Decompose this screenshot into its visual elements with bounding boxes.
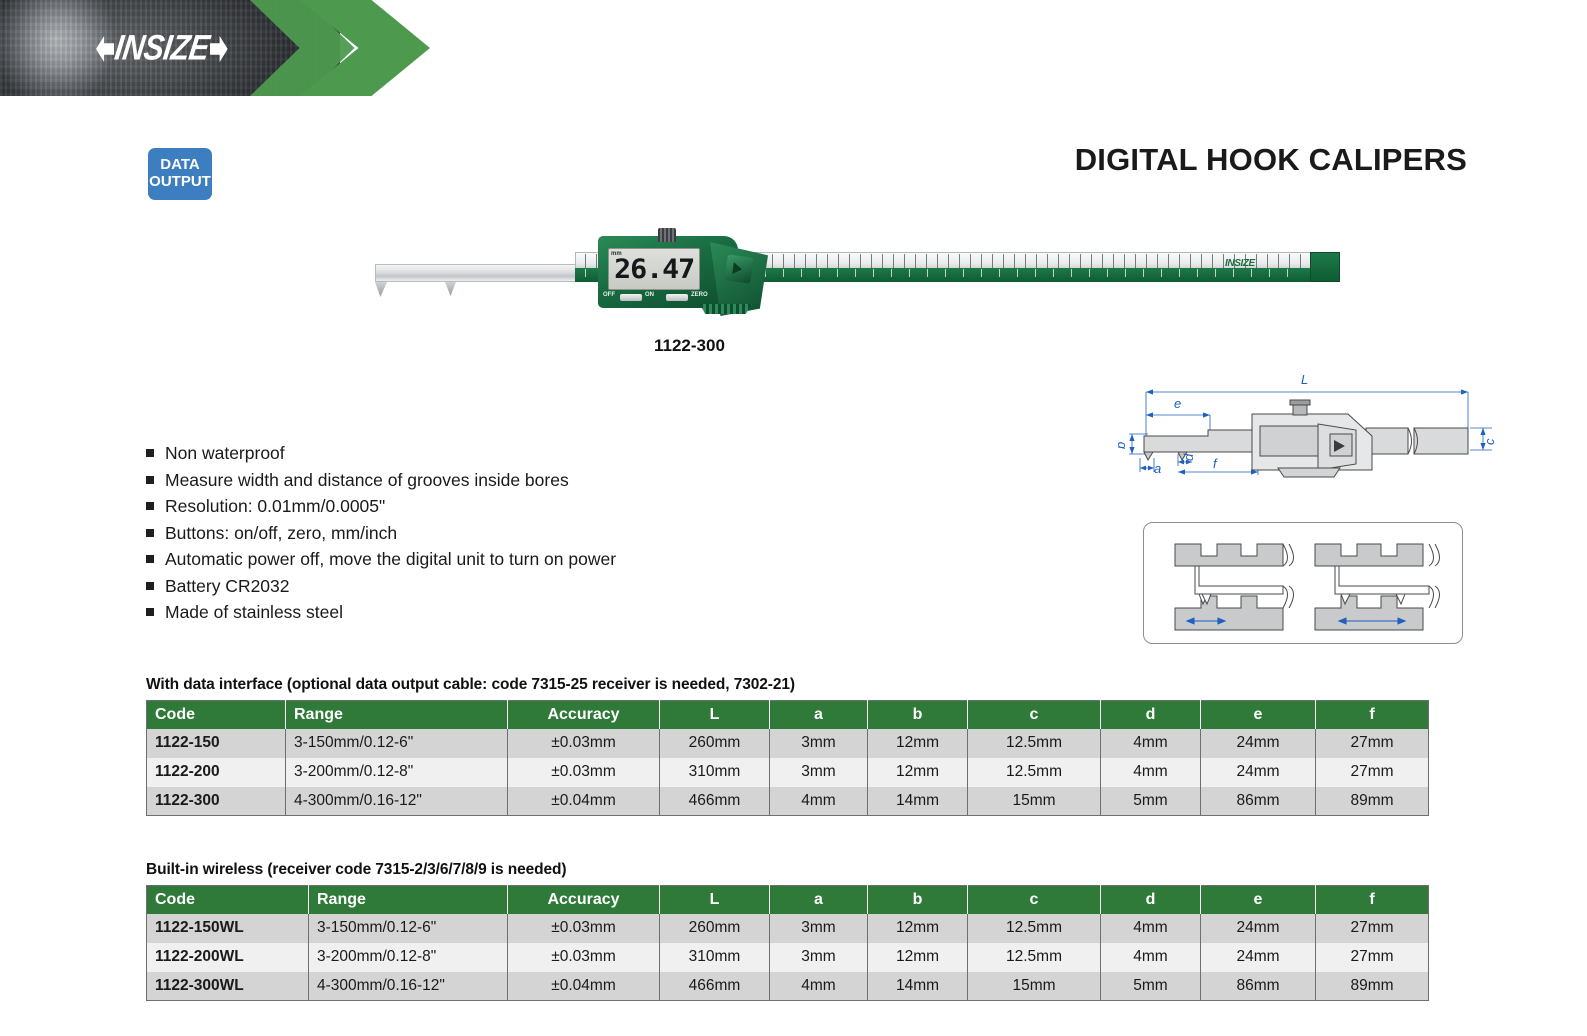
feature-label: Measure width and distance of grooves in… xyxy=(165,469,569,491)
col-header-range: Range xyxy=(286,701,508,729)
col-header-code: Code xyxy=(147,701,286,729)
cell-f: 89mm xyxy=(1316,787,1429,816)
feature-item: Resolution: 0.01mm/0.0005" xyxy=(146,495,766,517)
feature-label: Resolution: 0.01mm/0.0005" xyxy=(165,495,385,517)
data-output-badge: DATA OUTPUT xyxy=(148,148,212,200)
caliper-hook-jaw-right xyxy=(445,282,456,296)
beam-insize-logo: INSIZE xyxy=(1225,258,1255,269)
spec-table-data-interface: Code Range Accuracy L a b c d e f 1122-1… xyxy=(146,700,1429,816)
cell-b: 12mm xyxy=(868,729,968,758)
feature-item: Non waterproof xyxy=(146,442,766,464)
badge-line-2: OUTPUT xyxy=(149,174,211,191)
cell-accuracy: ±0.03mm xyxy=(508,943,660,972)
table-row: 1122-200 3-200mm/0.12-8" ±0.03mm 310mm 3… xyxy=(147,758,1429,787)
logo-right-arrow-icon xyxy=(210,36,228,62)
dim-label-e: e xyxy=(1174,396,1181,411)
cell-d: 4mm xyxy=(1101,758,1201,787)
col-header-b: b xyxy=(868,886,968,914)
cell-e: 24mm xyxy=(1201,729,1316,758)
cell-accuracy: ±0.03mm xyxy=(508,758,660,787)
cell-a: 4mm xyxy=(770,787,868,816)
cell-accuracy: ±0.03mm xyxy=(508,914,660,943)
caliper-roller-wheel xyxy=(724,254,753,283)
insize-logo: INSIZE xyxy=(96,32,256,66)
feature-label: Buttons: on/off, zero, mm/inch xyxy=(165,522,397,544)
lcd-reading: 26.47 xyxy=(614,254,694,285)
table-caption-wireless: Built-in wireless (receiver code 7315-2/… xyxy=(146,861,1429,879)
col-header-accuracy: Accuracy xyxy=(508,701,660,729)
feature-item: Measure width and distance of grooves in… xyxy=(146,469,766,491)
bullet-square-icon xyxy=(146,476,154,484)
cell-l: 466mm xyxy=(660,787,770,816)
application-usage-drawing xyxy=(1143,522,1463,644)
cell-range: 3-150mm/0.12-6" xyxy=(286,729,508,758)
cell-b: 12mm xyxy=(868,914,968,943)
table-header-row: Code Range Accuracy L a b c d e f xyxy=(147,701,1429,729)
cell-l: 466mm xyxy=(660,972,770,1001)
caliper-button-zero xyxy=(666,294,688,301)
cell-range: 3-150mm/0.12-6" xyxy=(309,914,508,943)
col-header-f: f xyxy=(1316,886,1429,914)
cell-accuracy: ±0.04mm xyxy=(508,972,660,1001)
col-header-code: Code xyxy=(147,886,309,914)
col-header-b: b xyxy=(868,701,968,729)
cell-f: 27mm xyxy=(1316,914,1429,943)
cell-f: 27mm xyxy=(1316,729,1429,758)
col-header-accuracy: Accuracy xyxy=(508,886,660,914)
caliper-hook-jaw-left xyxy=(375,282,387,297)
cell-a: 3mm xyxy=(770,758,868,787)
table-row: 1122-200WL 3-200mm/0.12-8" ±0.03mm 310mm… xyxy=(147,943,1429,972)
cell-d: 4mm xyxy=(1101,943,1201,972)
feature-label: Made of stainless steel xyxy=(165,601,343,623)
page-title: DIGITAL HOOK CALIPERS xyxy=(1075,142,1467,178)
cell-a: 4mm xyxy=(770,972,868,1001)
cell-b: 14mm xyxy=(868,787,968,816)
cell-l: 310mm xyxy=(660,943,770,972)
caliper-button-onoff xyxy=(620,294,642,301)
cell-e: 24mm xyxy=(1201,943,1316,972)
table-row: 1122-300 4-300mm/0.16-12" ±0.04mm 466mm … xyxy=(147,787,1429,816)
feature-label: Automatic power off, move the digital un… xyxy=(165,548,616,570)
bullet-square-icon xyxy=(146,502,154,510)
cell-a: 3mm xyxy=(770,729,868,758)
col-header-f: f xyxy=(1316,701,1429,729)
cell-b: 12mm xyxy=(868,758,968,787)
cell-code: 1122-300 xyxy=(147,787,286,816)
cell-l: 260mm xyxy=(660,914,770,943)
feature-item: Buttons: on/off, zero, mm/inch xyxy=(146,522,766,544)
cell-a: 3mm xyxy=(770,943,868,972)
cell-b: 14mm xyxy=(868,972,968,1001)
table-caption-data-interface: With data interface (optional data outpu… xyxy=(146,676,1429,694)
feature-label: Battery CR2032 xyxy=(165,575,290,597)
caliper-lcd-display: 26.47 xyxy=(608,248,700,290)
technical-dimension-drawing: L e b a d f c xyxy=(1118,362,1498,487)
feature-item: Made of stainless steel xyxy=(146,601,766,623)
col-header-a: a xyxy=(770,886,868,914)
cell-code: 1122-300WL xyxy=(147,972,309,1001)
cell-c: 12.5mm xyxy=(968,943,1101,972)
cell-range: 3-200mm/0.12-8" xyxy=(309,943,508,972)
col-header-e: e xyxy=(1201,701,1316,729)
feature-item: Battery CR2032 xyxy=(146,575,766,597)
cell-a: 3mm xyxy=(770,914,868,943)
feature-list: Non waterproof Measure width and distanc… xyxy=(146,442,766,628)
feature-item: Automatic power off, move the digital un… xyxy=(146,548,766,570)
cell-code: 1122-200WL xyxy=(147,943,309,972)
cell-d: 4mm xyxy=(1101,729,1201,758)
spec-table-data-interface-block: With data interface (optional data outpu… xyxy=(146,676,1429,816)
col-header-c: c xyxy=(968,701,1101,729)
badge-line-1: DATA xyxy=(160,157,199,174)
cell-d: 5mm xyxy=(1101,972,1201,1001)
cell-b: 12mm xyxy=(868,943,968,972)
table-row: 1122-150WL 3-150mm/0.12-6" ±0.03mm 260mm… xyxy=(147,914,1429,943)
dim-label-a: a xyxy=(1154,461,1161,476)
cell-c: 15mm xyxy=(968,787,1101,816)
caliper-beam-endcap xyxy=(1310,252,1340,282)
col-header-c: c xyxy=(968,886,1101,914)
cell-code: 1122-150WL xyxy=(147,914,309,943)
table-row: 1122-300WL 4-300mm/0.16-12" ±0.04mm 466m… xyxy=(147,972,1429,1001)
cell-c: 15mm xyxy=(968,972,1101,1001)
logo-wordmark: INSIZE xyxy=(113,31,212,66)
table-header-row: Code Range Accuracy L a b c d e f xyxy=(147,886,1429,914)
cell-e: 24mm xyxy=(1201,914,1316,943)
cell-range: 3-200mm/0.12-8" xyxy=(286,758,508,787)
bullet-square-icon xyxy=(146,555,154,563)
spec-table-wireless: Code Range Accuracy L a b c d e f 1122-1… xyxy=(146,885,1429,1001)
dim-label-L: L xyxy=(1301,372,1308,387)
cell-c: 12.5mm xyxy=(968,758,1101,787)
cell-range: 4-300mm/0.16-12" xyxy=(309,972,508,1001)
dim-label-b: b xyxy=(1118,442,1128,449)
col-header-a: a xyxy=(770,701,868,729)
cell-d: 5mm xyxy=(1101,787,1201,816)
col-header-e: e xyxy=(1201,886,1316,914)
cell-range: 4-300mm/0.16-12" xyxy=(286,787,508,816)
cell-c: 12.5mm xyxy=(968,914,1101,943)
col-header-range: Range xyxy=(309,886,508,914)
col-header-l: L xyxy=(660,886,770,914)
product-photo-digital-hook-caliper: INSIZE 26.47 mm OFF ON ZERO xyxy=(370,228,970,323)
lcd-unit-label: mm xyxy=(611,251,622,257)
page-banner: INSIZE xyxy=(0,0,1587,96)
table-row: 1122-150 3-150mm/0.12-6" ±0.03mm 260mm 3… xyxy=(147,729,1429,758)
bullet-square-icon xyxy=(146,582,154,590)
col-header-d: d xyxy=(1101,886,1201,914)
col-header-l: L xyxy=(660,701,770,729)
cell-e: 24mm xyxy=(1201,758,1316,787)
bullet-square-icon xyxy=(146,529,154,537)
cell-f: 27mm xyxy=(1316,758,1429,787)
cell-f: 27mm xyxy=(1316,943,1429,972)
caliper-grip-serration xyxy=(700,304,752,314)
caliper-label-zero: ZERO xyxy=(691,292,708,298)
caliper-thumb-roller-knob xyxy=(658,228,676,242)
cell-e: 86mm xyxy=(1201,787,1316,816)
bullet-square-icon xyxy=(146,608,154,616)
bullet-square-icon xyxy=(146,449,154,457)
cell-l: 310mm xyxy=(660,758,770,787)
cell-e: 86mm xyxy=(1201,972,1316,1001)
product-code-caption: 1122-300 xyxy=(654,336,725,356)
cell-d: 4mm xyxy=(1101,914,1201,943)
cell-accuracy: ±0.04mm xyxy=(508,787,660,816)
cell-code: 1122-200 xyxy=(147,758,286,787)
dim-label-d: d xyxy=(1181,453,1196,461)
caliper-label-on: ON xyxy=(645,292,654,298)
cell-f: 89mm xyxy=(1316,972,1429,1001)
logo-left-arrow-icon xyxy=(96,36,114,62)
caliper-label-off: OFF xyxy=(603,292,615,298)
feature-label: Non waterproof xyxy=(165,442,285,464)
cell-code: 1122-150 xyxy=(147,729,286,758)
dim-label-c: c xyxy=(1482,438,1497,445)
cell-l: 260mm xyxy=(660,729,770,758)
cell-accuracy: ±0.03mm xyxy=(508,729,660,758)
cell-c: 12.5mm xyxy=(968,729,1101,758)
col-header-d: d xyxy=(1101,701,1201,729)
spec-table-wireless-block: Built-in wireless (receiver code 7315-2/… xyxy=(146,861,1429,1001)
dim-label-f: f xyxy=(1213,456,1218,471)
